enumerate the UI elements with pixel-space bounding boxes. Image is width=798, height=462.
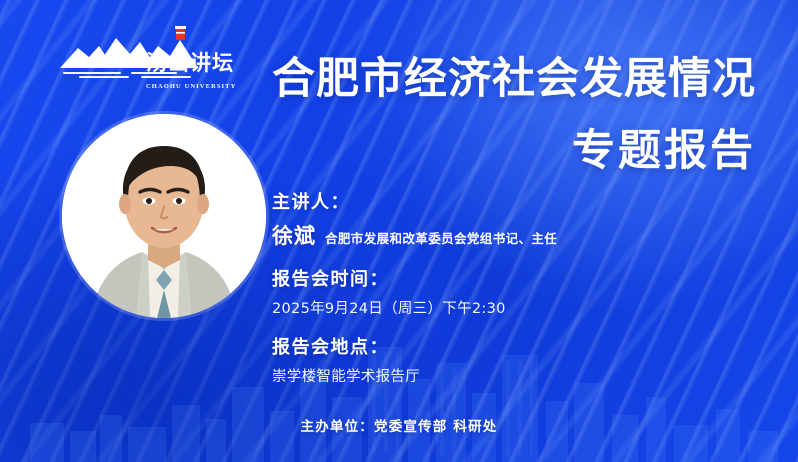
spacer-1 bbox=[272, 250, 692, 265]
time-value: 2025年9月24日（周三）下午2:30 bbox=[272, 297, 692, 318]
organizer-footer: 主办单位：党委宣传部 科研处 bbox=[0, 415, 798, 435]
title-line-1: 合肥市经济社会发展情况 bbox=[272, 56, 756, 102]
seminar-poster: 汤山讲坛 CHAOHU UNIVERSITY bbox=[0, 0, 798, 462]
pagoda-marker bbox=[175, 26, 186, 40]
spacer-2 bbox=[272, 318, 692, 333]
speaker-row: 徐斌 合肥市发展和改革委员会党组书记、主任 bbox=[272, 220, 692, 250]
title-line-2: 专题报告 bbox=[272, 128, 756, 174]
event-details: 主讲人： 徐斌 合肥市发展和改革委员会党组书记、主任 报告会时间： 2025年9… bbox=[272, 188, 692, 386]
logo-wordmark: 汤山讲坛 bbox=[146, 51, 234, 75]
logo-english-name: CHAOHU UNIVERSITY bbox=[146, 83, 236, 90]
speaker-label: 主讲人： bbox=[272, 188, 692, 214]
poster-title: 合肥市经济社会发展情况 专题报告 bbox=[272, 56, 756, 175]
place-label: 报告会地点： bbox=[272, 333, 692, 359]
chaohu-university-logo: 汤山讲坛 CHAOHU UNIVERSITY bbox=[58, 24, 238, 80]
speaker-name: 徐斌 bbox=[272, 220, 316, 250]
speaker-role: 合肥市发展和改革委员会党组书记、主任 bbox=[325, 228, 557, 247]
time-label: 报告会时间： bbox=[272, 265, 692, 291]
speaker-portrait-avatar bbox=[62, 114, 266, 318]
svg-text:汤山讲坛: 汤山讲坛 bbox=[146, 51, 234, 75]
place-value: 崇学楼智能学术报告厅 bbox=[272, 365, 692, 386]
